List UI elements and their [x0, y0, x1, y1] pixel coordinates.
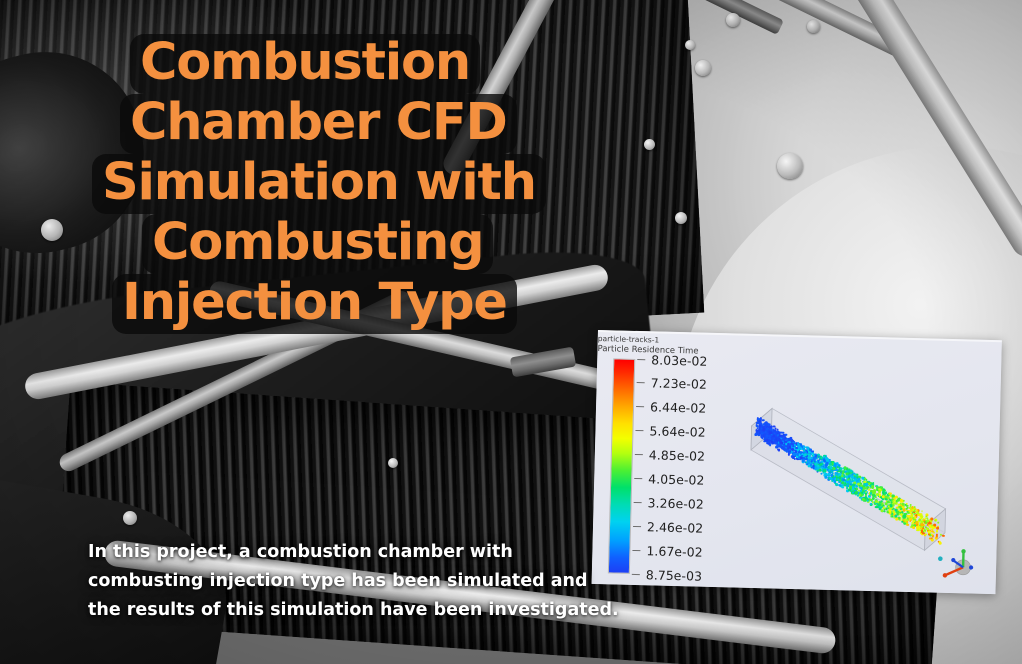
tick-dash [632, 573, 640, 574]
tick-value: 2.46e-02 [647, 519, 704, 535]
particle-track-point [810, 457, 813, 460]
particle-track-point [813, 454, 815, 456]
particle-injection-point [761, 435, 764, 438]
title-line-5: Injection Type [112, 274, 517, 334]
particle-injection-point [761, 429, 764, 432]
particle-track-point [841, 486, 844, 489]
colorbar-tick: 6.44e-02 [636, 400, 707, 416]
title-line-4: Combusting [142, 214, 493, 274]
particle-track-point [936, 534, 938, 536]
particle-track-point [903, 500, 905, 502]
particle-track-point [872, 501, 874, 503]
particle-track-point [891, 515, 893, 517]
particle-injection-point [772, 434, 775, 437]
tick-value: 5.64e-02 [649, 423, 706, 439]
particle-track-point [895, 509, 898, 512]
tick-value: 4.05e-02 [648, 471, 705, 487]
particle-track-point [819, 469, 821, 471]
particle-track-point [818, 455, 820, 457]
particle-track-point [916, 529, 918, 531]
particle-track-point [799, 452, 801, 454]
colorbar-tick: 8.03e-02 [637, 352, 708, 368]
tick-value: 6.44e-02 [650, 400, 707, 416]
tick-dash [633, 526, 641, 527]
particle-track-point [884, 502, 887, 505]
particle-track-point [933, 523, 936, 526]
particle-track-point [845, 475, 848, 478]
particle-track-point [891, 498, 894, 501]
particle-track-point [937, 521, 939, 523]
particle-track-point [835, 468, 838, 471]
colorbar-tick: 1.67e-02 [632, 543, 703, 559]
axis-triad-svg [936, 545, 983, 586]
particle-track-point [914, 516, 917, 519]
particle-track-point [862, 494, 864, 496]
poster-title: Combustion Chamber CFD Simulation with C… [96, 34, 566, 334]
particle-track-point [855, 491, 858, 494]
particle-track-point [854, 479, 857, 482]
particle-track-point [907, 524, 909, 526]
particle-track-point [817, 464, 820, 467]
title-line-1: Combustion [130, 34, 480, 94]
particle-track-point [895, 502, 897, 504]
particle-track-point [930, 517, 933, 520]
particle-track-point [897, 498, 900, 501]
particle-track-point [812, 465, 814, 467]
title-line-3: Simulation with [92, 154, 546, 214]
particle-track-point [862, 497, 865, 500]
particle-injection-point [777, 448, 780, 451]
particle-track-point [915, 514, 917, 516]
tick-value: 8.03e-02 [651, 352, 708, 368]
duct-geometry [734, 354, 989, 575]
particle-track-point [863, 486, 866, 489]
colorbar-tick: 5.64e-02 [635, 424, 706, 440]
particle-track-point [860, 483, 862, 485]
particle-track-point [923, 519, 925, 521]
colorbar-tick: 4.05e-02 [634, 471, 705, 487]
colorbar-tick: 3.26e-02 [633, 495, 704, 511]
tick-dash [637, 359, 645, 360]
particle-track-point [851, 475, 854, 478]
particle-track-point [888, 498, 890, 500]
particle-injection-point [786, 445, 789, 448]
tick-dash [635, 430, 643, 431]
colorbar-tick: 2.46e-02 [633, 519, 704, 535]
tick-value: 8.75e-03 [646, 567, 703, 583]
particle-track-point [942, 534, 945, 537]
particle-track-point [940, 533, 942, 535]
particle-track-point [926, 520, 929, 523]
particle-track-point [813, 460, 815, 462]
particle-track-point [888, 509, 891, 512]
particle-track-point [873, 482, 875, 484]
particle-track-point [921, 510, 923, 512]
poster-canvas: Combustion Chamber CFD Simulation with C… [0, 0, 1022, 664]
particle-track-point [899, 512, 901, 514]
particle-injection-point [762, 419, 765, 422]
particle-track-point [930, 538, 933, 541]
particle-track-cloud [734, 354, 989, 575]
cfd-viewport: particle-tracks-1 Particle Residence Tim… [592, 330, 1002, 594]
cfd-result-panel: particle-tracks-1 Particle Residence Tim… [592, 330, 1002, 594]
particle-track-point [884, 510, 886, 512]
particle-injection-point [789, 437, 792, 440]
particle-track-point [795, 447, 798, 450]
particle-track-point [797, 445, 800, 448]
tick-dash [636, 406, 644, 407]
tick-dash [632, 550, 640, 551]
particle-track-point [824, 457, 827, 460]
colorbar-tick: 4.85e-02 [635, 448, 706, 464]
tick-dash [637, 382, 645, 383]
particle-track-point [867, 500, 869, 502]
particle-track-point [846, 473, 848, 475]
tick-value: 7.23e-02 [650, 376, 707, 392]
colorbar-tick: 8.75e-03 [632, 567, 703, 583]
particle-track-point [899, 503, 901, 505]
particle-track-point [921, 523, 924, 526]
particle-track-point [847, 481, 850, 484]
particle-injection-point [766, 427, 769, 430]
particle-track-point [834, 463, 837, 466]
particle-track-point [854, 487, 856, 489]
particle-track-point [852, 491, 854, 493]
particle-injection-point [775, 442, 778, 445]
particle-track-point [896, 518, 899, 521]
particle-track-point [841, 481, 844, 484]
poster-description: In this project, a combustion chamber wi… [88, 538, 624, 625]
particle-track-point [936, 530, 939, 533]
particle-track-point [872, 493, 875, 496]
tick-value: 1.67e-02 [646, 543, 703, 559]
particle-track-point [841, 484, 843, 486]
particle-track-point [841, 471, 844, 474]
particle-track-point [861, 477, 864, 480]
title-line-2: Chamber CFD [120, 94, 517, 154]
particle-track-point [843, 467, 846, 470]
triad-z-tip [961, 549, 966, 554]
particle-track-point [911, 506, 914, 509]
tick-value: 4.85e-02 [649, 447, 706, 463]
particle-track-point [871, 485, 874, 488]
particle-injection-point [767, 441, 770, 444]
particle-track-point [931, 530, 934, 533]
tick-dash [634, 478, 642, 479]
colorbar-tick: 7.23e-02 [636, 376, 707, 392]
particle-injection-point [792, 456, 795, 459]
particle-track-point [903, 509, 906, 512]
particle-injection-point [770, 426, 773, 429]
tick-value: 3.26e-02 [647, 495, 704, 511]
particle-injection-point [770, 432, 773, 435]
tick-dash [635, 454, 643, 455]
particle-track-point [892, 495, 895, 498]
particle-track-point [872, 490, 875, 493]
axis-triad [936, 545, 983, 586]
particle-track-point [885, 498, 888, 501]
triad-marker-dot [938, 556, 943, 561]
particle-track-point [852, 484, 855, 487]
particle-track-point [901, 521, 903, 523]
particle-track-point [864, 477, 867, 480]
tick-dash [634, 502, 642, 503]
particle-injection-point [787, 453, 790, 456]
